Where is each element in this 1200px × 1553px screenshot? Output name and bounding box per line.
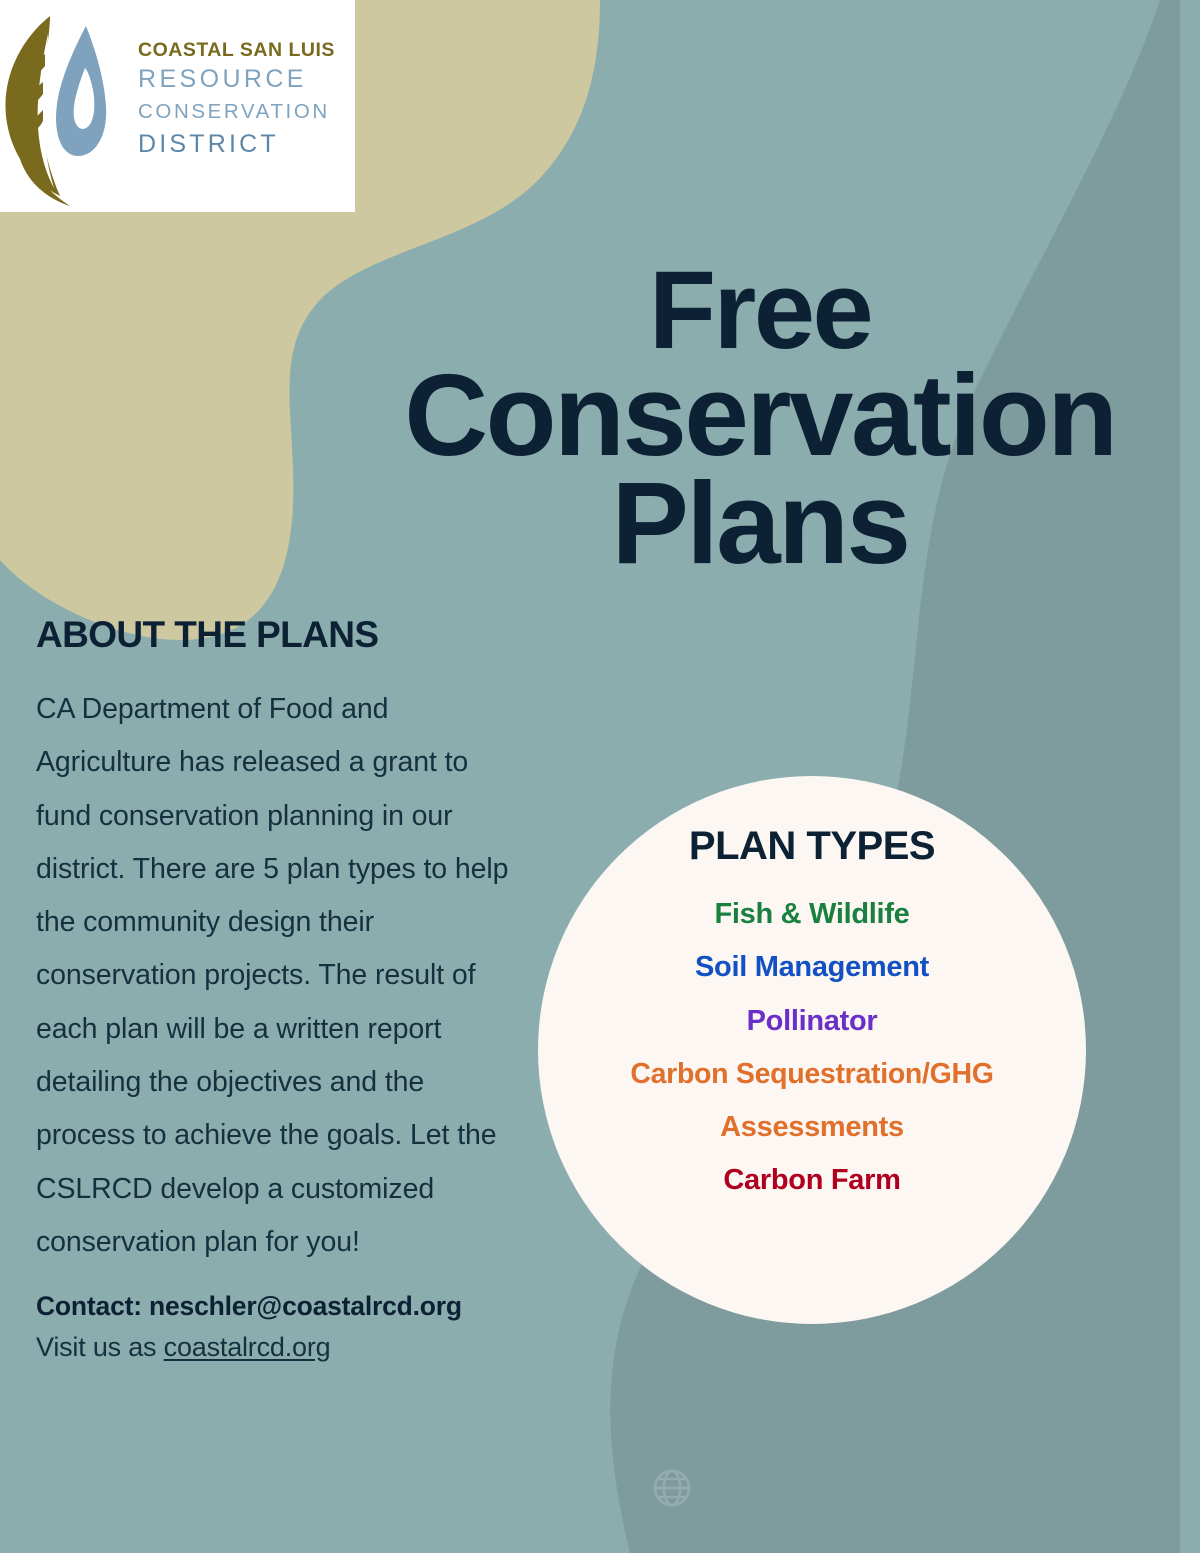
plan-type-fish-wildlife: Fish & Wildlife xyxy=(714,899,909,930)
headline-line-2: Conservation xyxy=(330,362,1190,470)
headline-line-1: Free xyxy=(330,260,1190,362)
plan-types-panel: PLAN TYPES Fish & Wildlife Soil Manageme… xyxy=(538,776,1086,1324)
contact-email-line[interactable]: Contact: neschler@coastalrcd.org xyxy=(36,1291,526,1322)
logo-line-coastal-san-luis: COASTAL SAN LUIS xyxy=(138,37,335,63)
plan-type-soil-management: Soil Management xyxy=(695,952,929,983)
conservation-plans-flyer: COASTAL SAN LUIS RESOURCE CONSERVATION D… xyxy=(0,0,1200,1553)
leaf-and-water-drop-logo-icon xyxy=(0,6,128,206)
plan-type-carbon-farm: Carbon Farm xyxy=(723,1165,900,1196)
headline-line-3: Plans xyxy=(330,470,1190,578)
logo-wordmark: COASTAL SAN LUIS RESOURCE CONSERVATION D… xyxy=(128,37,335,176)
plan-type-assessments: Assessments xyxy=(720,1112,904,1143)
background-sage-swoosh xyxy=(610,0,1180,1553)
website-link[interactable]: coastalrcd.org xyxy=(164,1332,331,1362)
logo-line-resource: RESOURCE xyxy=(138,63,335,96)
logo-line-conservation: CONSERVATION xyxy=(138,96,335,128)
about-the-plans-section: ABOUT THE PLANS CA Department of Food an… xyxy=(36,614,526,1363)
globe-icon xyxy=(652,1468,692,1508)
organization-logo: COASTAL SAN LUIS RESOURCE CONSERVATION D… xyxy=(0,0,355,212)
about-heading: ABOUT THE PLANS xyxy=(36,614,526,656)
plan-type-pollinator: Pollinator xyxy=(747,1006,878,1037)
visit-website-line: Visit us as coastalrcd.org xyxy=(36,1332,526,1363)
visit-prefix-text: Visit us as xyxy=(36,1332,164,1362)
plan-type-carbon-sequestration-ghg: Carbon Sequestration/GHG xyxy=(630,1059,993,1090)
page-title: Free Conservation Plans xyxy=(330,260,1190,578)
about-body-text: CA Department of Food and Agriculture ha… xyxy=(36,683,526,1269)
logo-line-district: DISTRICT xyxy=(138,128,335,162)
plan-types-title: PLAN TYPES xyxy=(689,824,935,869)
